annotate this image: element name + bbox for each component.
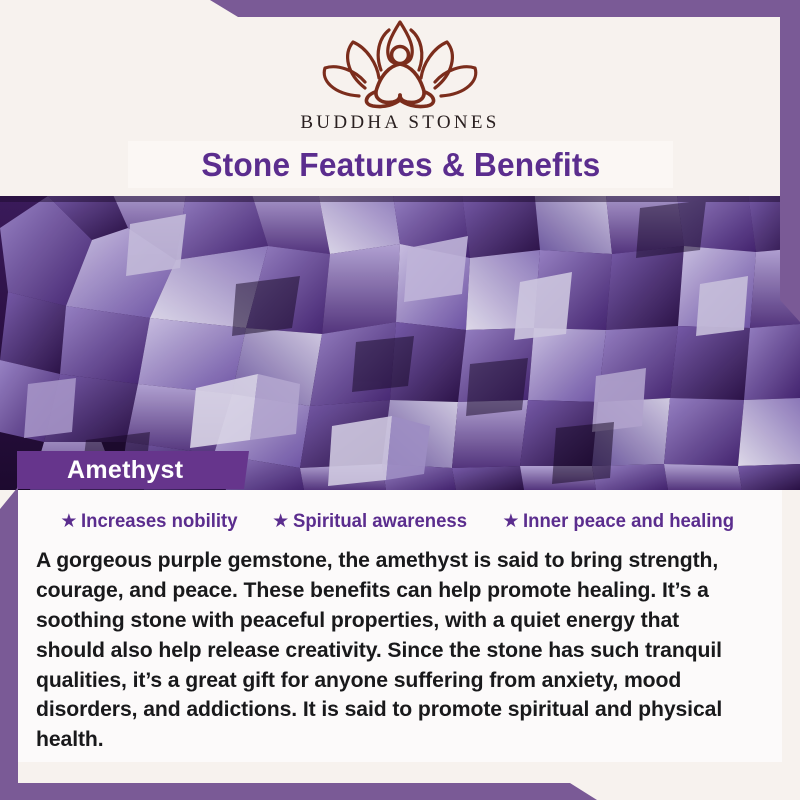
star-icon: ★ bbox=[502, 512, 519, 531]
frame-accent-left bbox=[0, 487, 18, 800]
star-icon: ★ bbox=[272, 512, 289, 531]
benefit-label: Increases nobility bbox=[81, 510, 237, 533]
brand-name: BUDDHA STONES bbox=[300, 112, 499, 134]
benefit-label: Inner peace and healing bbox=[523, 510, 734, 533]
title-band: Stone Features & Benefits bbox=[128, 141, 673, 188]
star-icon: ★ bbox=[60, 512, 77, 531]
brand-logo: BUDDHA STONES bbox=[0, 18, 800, 134]
stone-name-banner: Amethyst bbox=[17, 451, 249, 489]
page-title: Stone Features & Benefits bbox=[201, 146, 600, 184]
frame-accent-top bbox=[205, 0, 800, 17]
benefit-label: Spiritual awareness bbox=[293, 510, 467, 533]
stone-description: A gorgeous purple gemstone, the amethyst… bbox=[36, 546, 757, 755]
frame-accent-bottom bbox=[0, 783, 600, 800]
benefit-item-3: ★ Inner peace and healing bbox=[502, 510, 745, 533]
stone-benefits-card: BUDDHA STONES Stone Features & Benefits … bbox=[0, 0, 800, 800]
benefits-list: ★ Increases nobility ★ Spiritual awarene… bbox=[36, 510, 768, 533]
content-card: ★ Increases nobility ★ Spiritual awarene… bbox=[18, 490, 782, 762]
amethyst-photo bbox=[0, 188, 800, 490]
amethyst-crystal-cluster-illustration bbox=[0, 188, 800, 490]
lotus-meditation-icon bbox=[315, 18, 485, 110]
stone-name: Amethyst bbox=[17, 456, 183, 485]
benefit-item-2: ★ Spiritual awareness bbox=[272, 510, 476, 533]
benefit-item-1: ★ Increases nobility bbox=[60, 510, 246, 533]
frame-accent-right bbox=[780, 0, 800, 322]
